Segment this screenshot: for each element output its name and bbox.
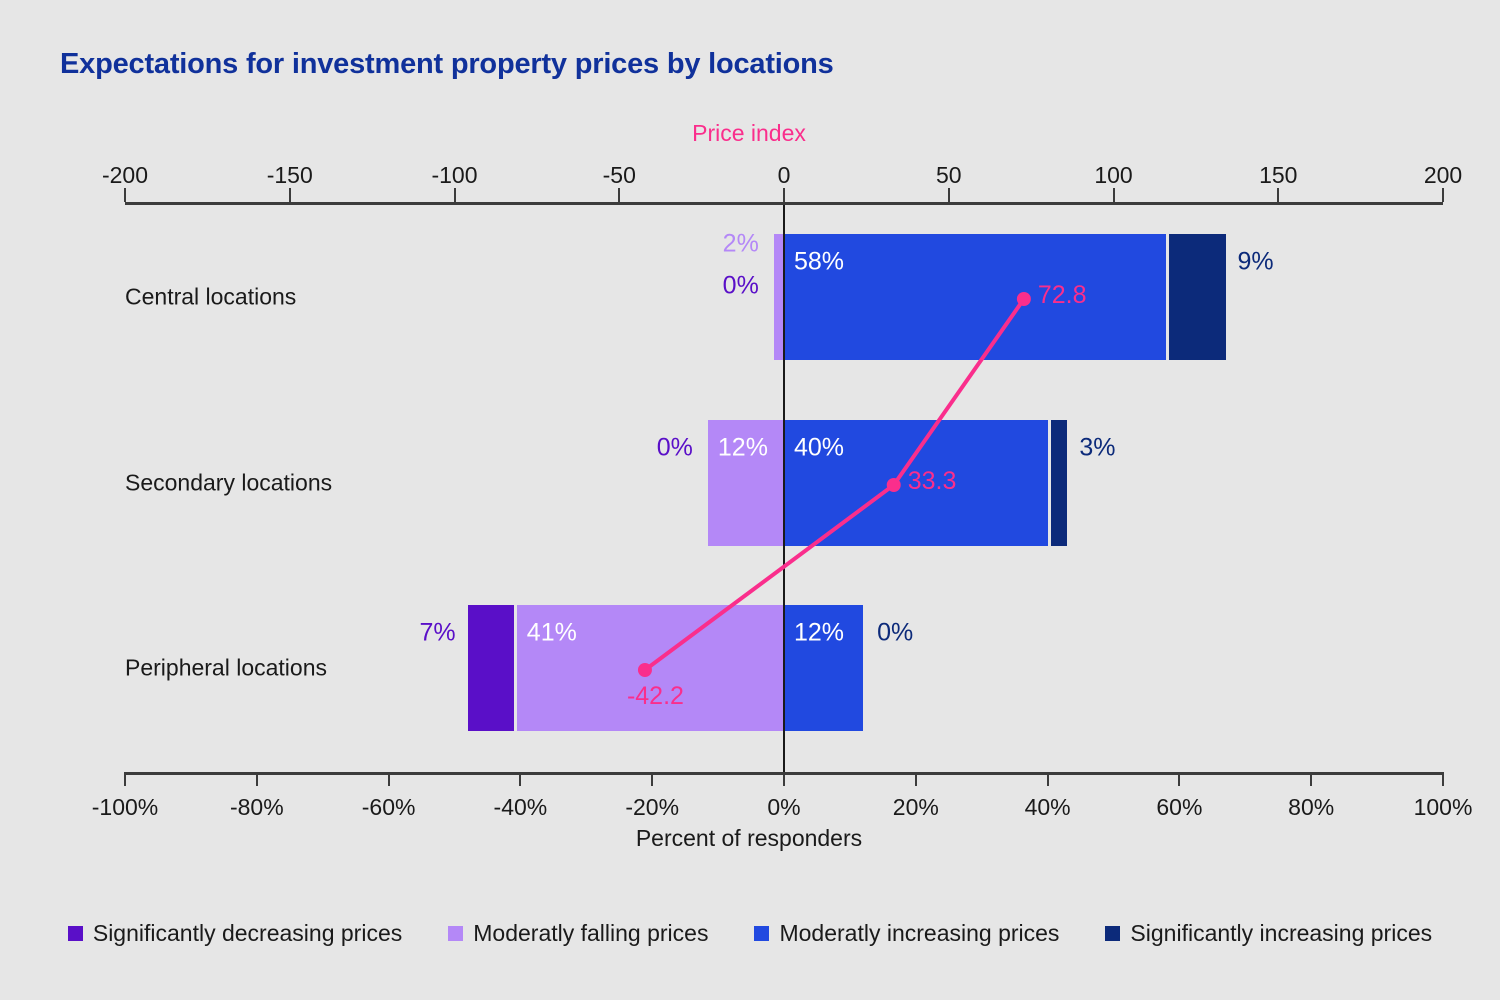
axis-tick-label: -200 bbox=[102, 162, 148, 189]
axis-tick bbox=[124, 188, 126, 202]
axis-tick-label: 0% bbox=[767, 794, 800, 821]
axis-tick-label: -40% bbox=[494, 794, 548, 821]
legend-swatch-icon bbox=[1105, 926, 1120, 941]
axis-tick-label: -60% bbox=[362, 794, 416, 821]
axis-tick bbox=[948, 188, 950, 202]
legend-swatch-icon bbox=[68, 926, 83, 941]
chart-legend: Significantly decreasing pricesModeratly… bbox=[0, 920, 1500, 947]
axis-tick bbox=[783, 188, 785, 202]
bar-value-label: 3% bbox=[1079, 434, 1115, 463]
axis-tick-label: 200 bbox=[1424, 162, 1462, 189]
axis-tick-label: 0 bbox=[778, 162, 791, 189]
axis-tick bbox=[1442, 188, 1444, 202]
zero-reference-line bbox=[783, 205, 785, 772]
legend-item[interactable]: Moderatly increasing prices bbox=[754, 920, 1059, 947]
category-label: Peripheral locations bbox=[125, 655, 327, 682]
axis-tick-label: 50 bbox=[936, 162, 962, 189]
bottom-axis-title: Percent of responders bbox=[0, 825, 1499, 852]
axis-tick bbox=[1178, 772, 1180, 786]
axis-tick bbox=[1113, 188, 1115, 202]
legend-label: Moderatly increasing prices bbox=[779, 920, 1059, 947]
price-index-value-label: 72.8 bbox=[1038, 281, 1087, 310]
axis-tick-label: 20% bbox=[893, 794, 939, 821]
axis-tick-label: 60% bbox=[1156, 794, 1202, 821]
axis-tick-label: 40% bbox=[1025, 794, 1071, 821]
axis-tick bbox=[1442, 772, 1444, 786]
axis-tick-label: -100% bbox=[92, 794, 158, 821]
legend-item[interactable]: Moderatly falling prices bbox=[448, 920, 708, 947]
axis-tick-label: 150 bbox=[1259, 162, 1297, 189]
bar-value-label: 41% bbox=[527, 619, 577, 648]
bar-segment bbox=[1169, 234, 1225, 360]
axis-tick-label: -50 bbox=[603, 162, 636, 189]
axis-tick bbox=[256, 772, 258, 786]
axis-tick bbox=[1310, 772, 1312, 786]
axis-tick-label: 80% bbox=[1288, 794, 1334, 821]
axis-tick-label: 100% bbox=[1414, 794, 1473, 821]
bar-value-label: 0% bbox=[877, 619, 913, 648]
bar-segment bbox=[1051, 420, 1068, 546]
axis-tick-label: -20% bbox=[625, 794, 679, 821]
chart-canvas: Expectations for investment property pri… bbox=[0, 0, 1500, 1000]
axis-tick bbox=[1047, 772, 1049, 786]
axis-tick bbox=[289, 188, 291, 202]
category-label: Secondary locations bbox=[125, 470, 332, 497]
axis-tick bbox=[1277, 188, 1279, 202]
price-index-value-label: -42.2 bbox=[627, 682, 684, 711]
axis-tick bbox=[454, 188, 456, 202]
category-label: Central locations bbox=[125, 284, 296, 311]
legend-item[interactable]: Significantly decreasing prices bbox=[68, 920, 402, 947]
bar-value-label: 0% bbox=[657, 434, 693, 463]
legend-label: Significantly decreasing prices bbox=[93, 920, 402, 947]
axis-tick-label: -100 bbox=[431, 162, 477, 189]
bar-value-label: 58% bbox=[794, 248, 844, 277]
axis-tick bbox=[915, 772, 917, 786]
axis-tick bbox=[124, 772, 126, 786]
bar-value-label: 7% bbox=[420, 619, 456, 648]
bar-value-label: 0% bbox=[723, 272, 759, 301]
top-axis-title: Price index bbox=[0, 120, 1499, 147]
legend-swatch-icon bbox=[448, 926, 463, 941]
axis-tick-label: -80% bbox=[230, 794, 284, 821]
chart-title: Expectations for investment property pri… bbox=[60, 48, 834, 81]
bar-value-label: 12% bbox=[794, 619, 844, 648]
axis-tick bbox=[651, 772, 653, 786]
bar-value-label: 40% bbox=[794, 434, 844, 463]
axis-tick-label: -150 bbox=[267, 162, 313, 189]
axis-tick bbox=[388, 772, 390, 786]
axis-tick-label: 100 bbox=[1094, 162, 1132, 189]
axis-tick bbox=[783, 772, 785, 786]
axis-tick bbox=[519, 772, 521, 786]
bar-value-label: 12% bbox=[718, 434, 768, 463]
legend-item[interactable]: Significantly increasing prices bbox=[1105, 920, 1432, 947]
axis-tick bbox=[618, 188, 620, 202]
bar-segment bbox=[468, 605, 514, 731]
bar-value-label: 9% bbox=[1238, 248, 1274, 277]
legend-label: Significantly increasing prices bbox=[1130, 920, 1432, 947]
bar-value-label: 2% bbox=[723, 230, 759, 259]
legend-swatch-icon bbox=[754, 926, 769, 941]
price-index-value-label: 33.3 bbox=[908, 467, 957, 496]
legend-label: Moderatly falling prices bbox=[473, 920, 708, 947]
